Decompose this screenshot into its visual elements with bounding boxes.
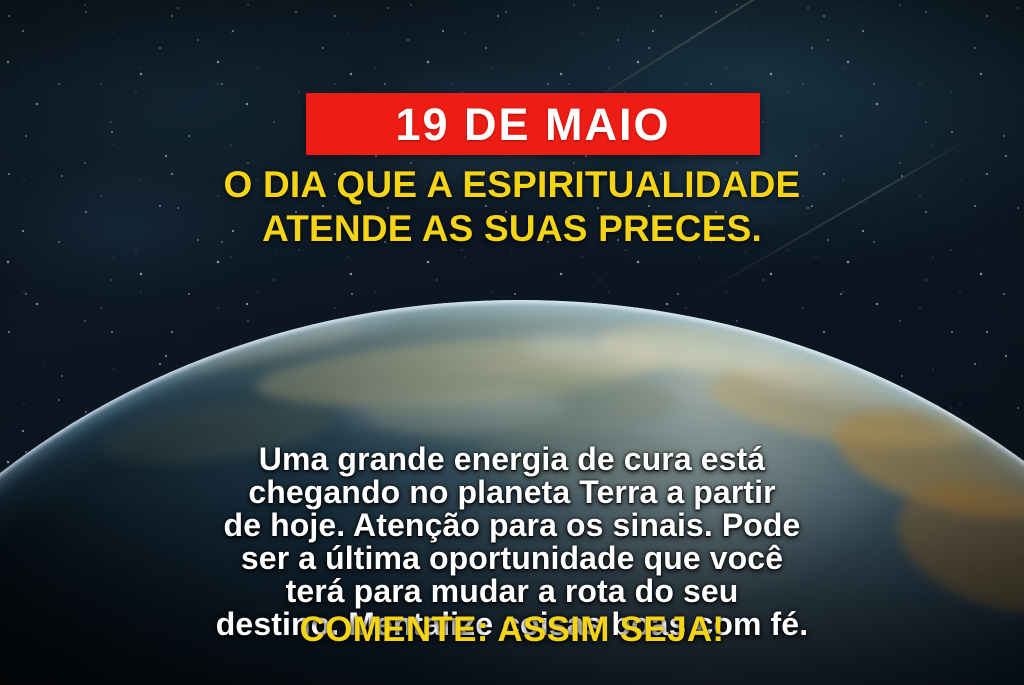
body-copy-line-5: terá para mudar a rota do seu bbox=[0, 575, 1024, 608]
poster-content: 19 DE MAIO O DIA QUE A ESPIRITUALIDADE A… bbox=[0, 0, 1024, 685]
date-banner: 19 DE MAIO bbox=[306, 93, 760, 155]
body-copy-line-3: de hoje. Atenção para os sinais. Pode bbox=[0, 509, 1024, 542]
date-banner-label: 19 DE MAIO bbox=[395, 102, 670, 147]
body-copy-line-4: ser a última oportunidade que você bbox=[0, 542, 1024, 575]
body-copy-line-2: chegando no planeta Terra a partir bbox=[0, 476, 1024, 509]
call-to-action-text: COMENTE: ASSIM SEJA! bbox=[0, 612, 1024, 647]
headline-line-2: ATENDE AS SUAS PRECES. bbox=[0, 207, 1024, 251]
body-copy-line-1: Uma grande energia de cura está bbox=[0, 443, 1024, 476]
headline: O DIA QUE A ESPIRITUALIDADE ATENDE AS SU… bbox=[0, 163, 1024, 250]
headline-line-1: O DIA QUE A ESPIRITUALIDADE bbox=[0, 163, 1024, 207]
poster-canvas: 19 DE MAIO O DIA QUE A ESPIRITUALIDADE A… bbox=[0, 0, 1024, 685]
